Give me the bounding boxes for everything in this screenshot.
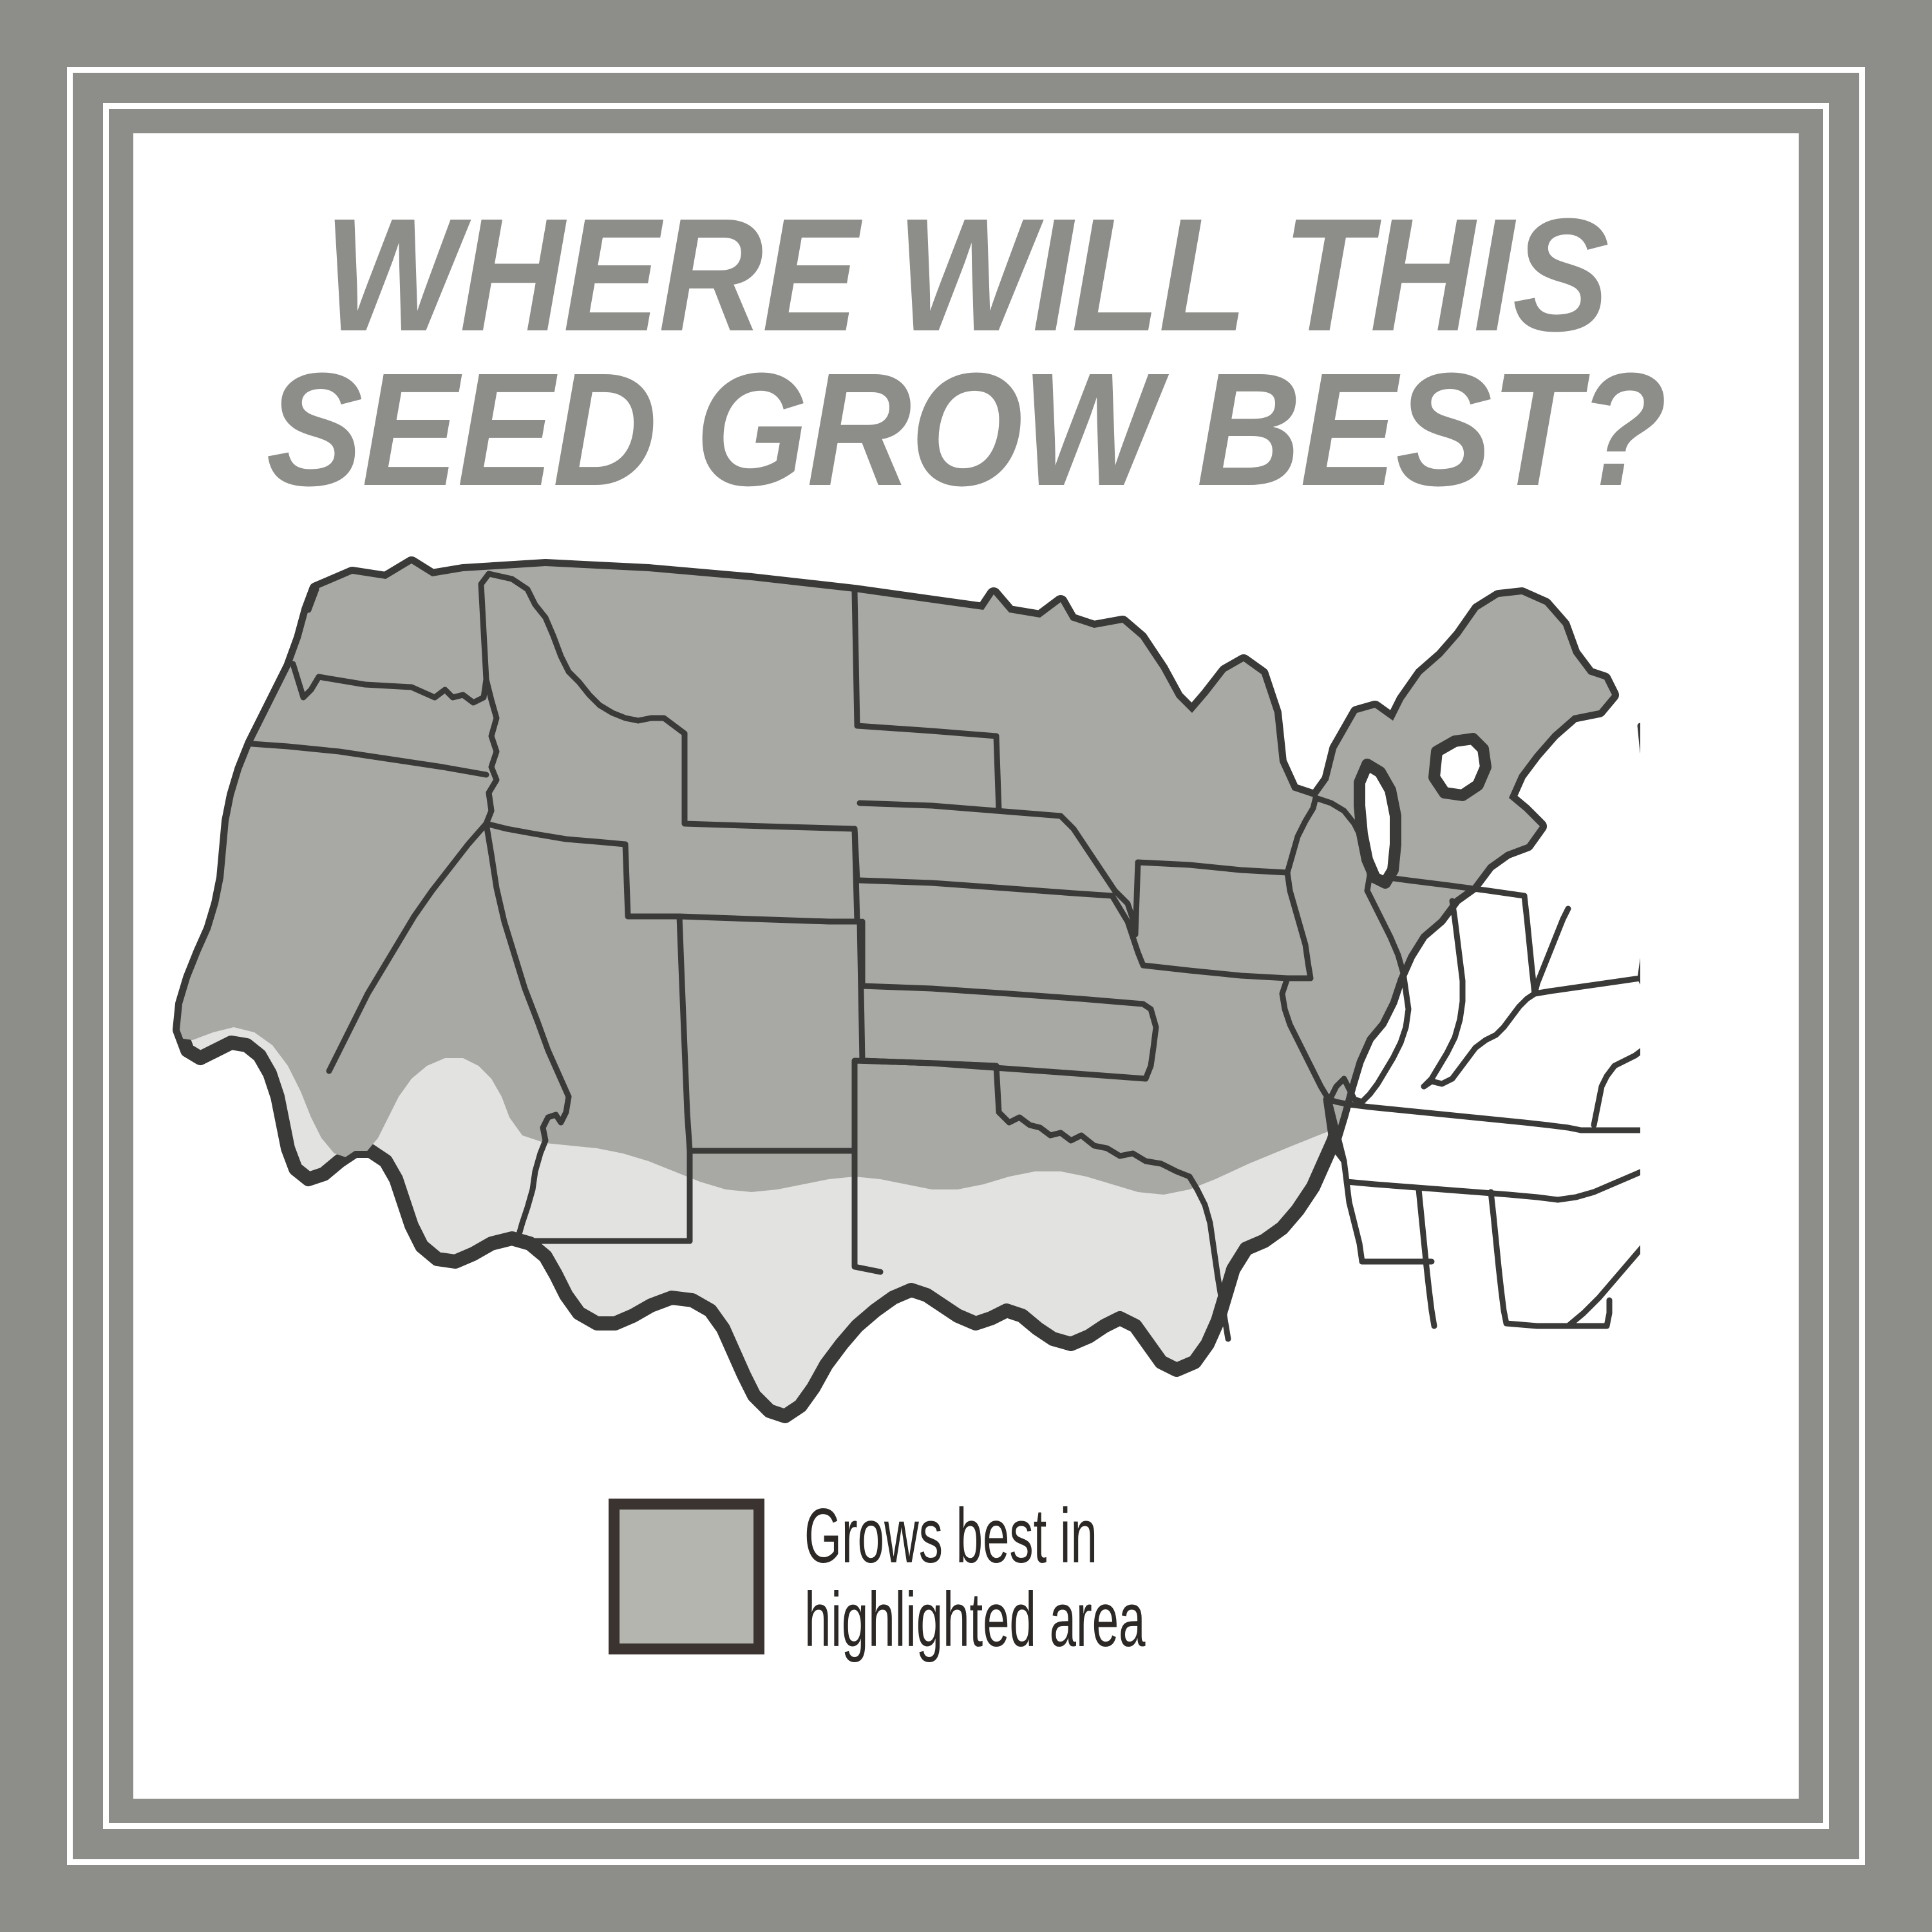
frame-inner-rule-left xyxy=(103,103,109,1829)
poster-canvas: WHERE WILL THIS SEED GROW BEST? xyxy=(133,133,1799,1799)
legend-label: Grows best in highlighted area xyxy=(804,1495,1145,1662)
legend-swatch xyxy=(609,1499,764,1654)
frame-outer-rule-bottom xyxy=(67,1859,1865,1865)
frame-inner-rule-top xyxy=(103,103,1829,109)
frame-outer-rule-left xyxy=(67,67,73,1865)
poster-background: WHERE WILL THIS SEED GROW BEST? xyxy=(0,0,1932,1932)
us-map-svg xyxy=(159,545,1640,1499)
lake-erie-huron-gap xyxy=(1434,739,1486,795)
united-states-map xyxy=(159,545,1640,1499)
highlight-band xyxy=(159,545,1640,1195)
lake-michigan xyxy=(1359,764,1396,883)
page-title: WHERE WILL THIS SEED GROW BEST? xyxy=(216,198,1715,507)
legend: Grows best in highlighted area xyxy=(609,1499,1354,1662)
frame-outer-rule-top xyxy=(67,67,1865,73)
highlighted-growing-region xyxy=(159,545,1640,1195)
frame-inner-rule-right xyxy=(1823,103,1829,1829)
frame-inner-rule-bottom xyxy=(103,1823,1829,1829)
frame-outer-rule-right xyxy=(1859,67,1865,1865)
